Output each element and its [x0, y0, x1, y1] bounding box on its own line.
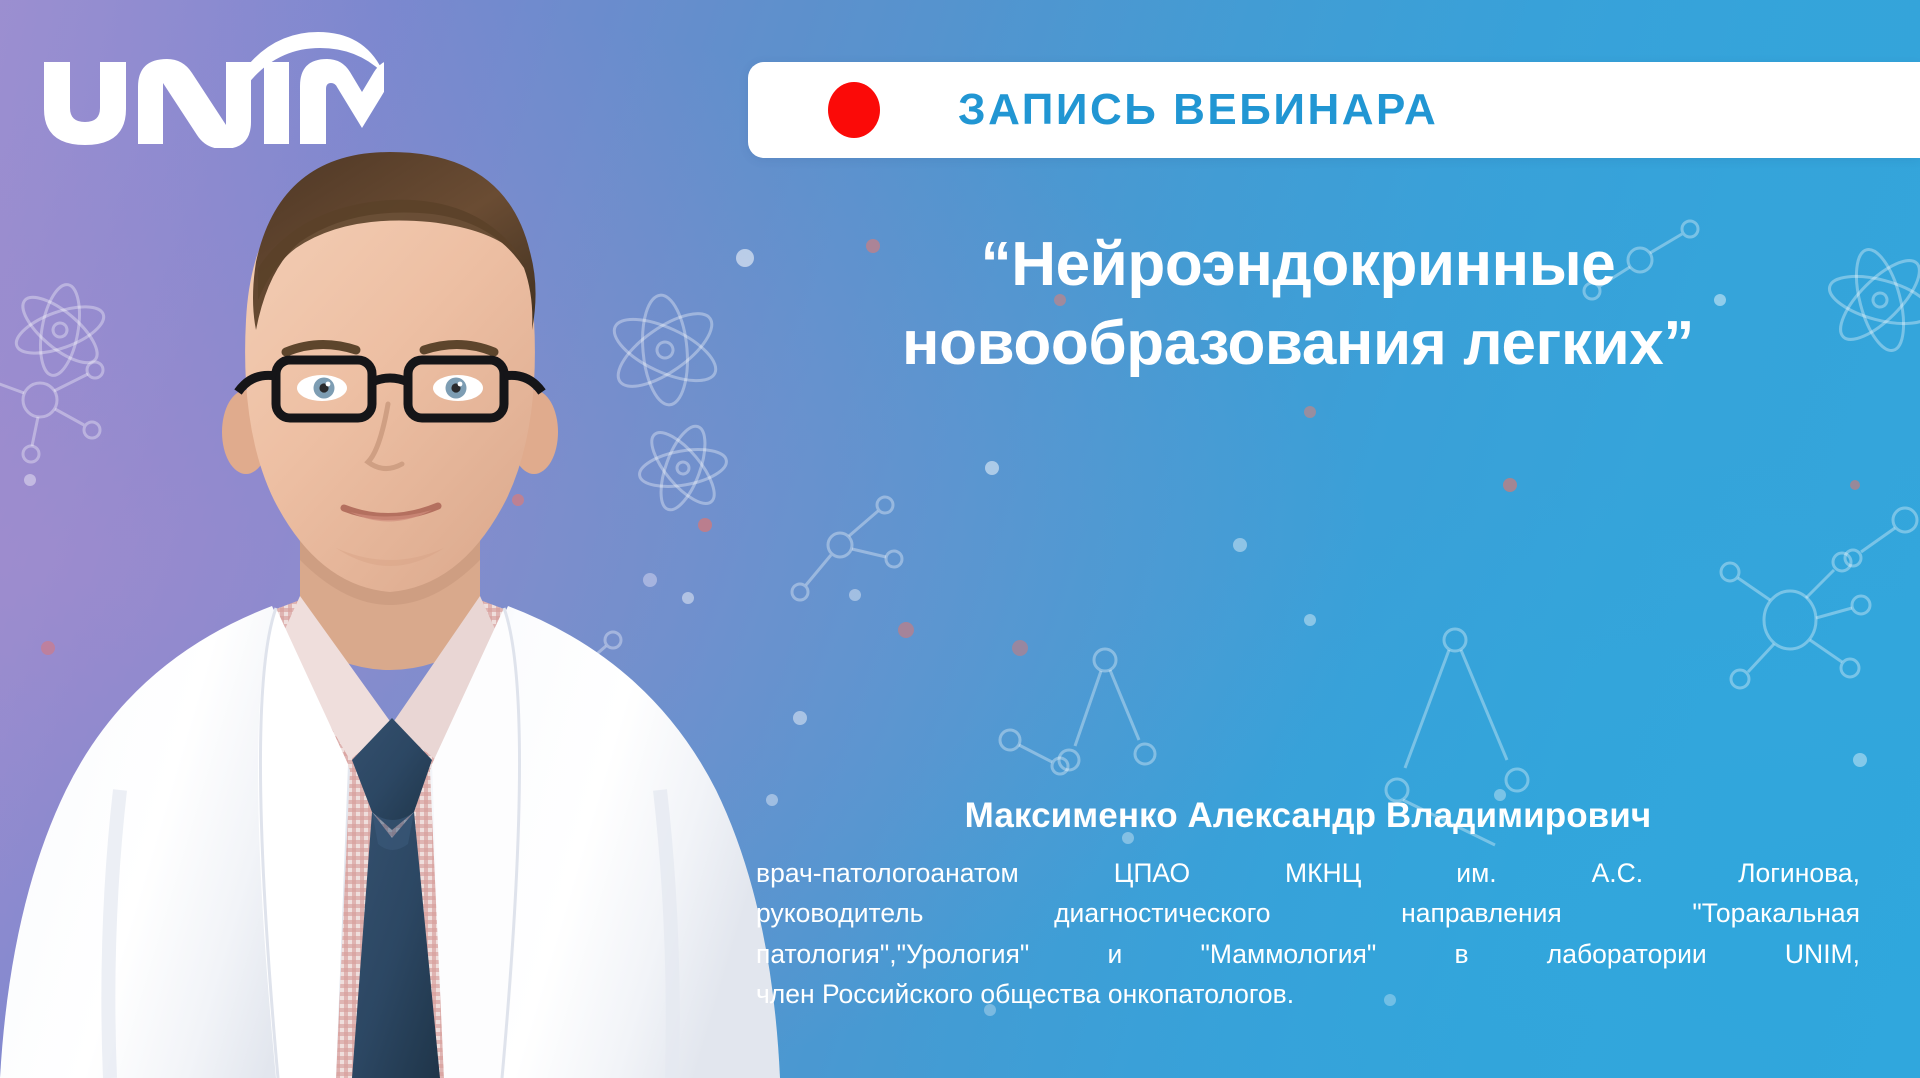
- content-column: “Нейроэндокринные новообразования легких…: [748, 0, 1920, 1078]
- speaker-bio-line-3: патология","Урология" и "Маммология" в л…: [756, 934, 1860, 974]
- speaker-bio: врач-патологоанатом ЦПАО МКНЦ им. А.С. Л…: [748, 853, 1868, 1014]
- speaker-bio-line-1: врач-патологоанатом ЦПАО МКНЦ им. А.С. Л…: [756, 853, 1860, 893]
- unim-logo[interactable]: [36, 26, 384, 148]
- speaker-name: Максименко Александр Владимирович: [748, 795, 1868, 837]
- webinar-title-line-2: новообразования легких”: [748, 304, 1848, 383]
- banner-label: ЗАПИСЬ ВЕБИНАРА: [958, 88, 1438, 132]
- speaker-block: Максименко Александр Владимирович врач-п…: [748, 795, 1868, 1014]
- record-dot-icon: [828, 82, 880, 138]
- webinar-title-line-1: “Нейроэндокринные: [748, 225, 1848, 304]
- speaker-photo: [0, 0, 780, 1078]
- webinar-title: “Нейроэндокринные новообразования легких…: [748, 225, 1848, 384]
- webinar-poster: ЗАПИСЬ ВЕБИНАРА “Нейроэндокринные новооб…: [0, 0, 1920, 1078]
- webinar-record-banner: ЗАПИСЬ ВЕБИНАРА: [748, 62, 1920, 158]
- speaker-bio-line-2: руководитель диагностического направлени…: [756, 893, 1860, 933]
- speaker-bio-line-4: член Российского общества онкопатологов.: [756, 974, 1860, 1014]
